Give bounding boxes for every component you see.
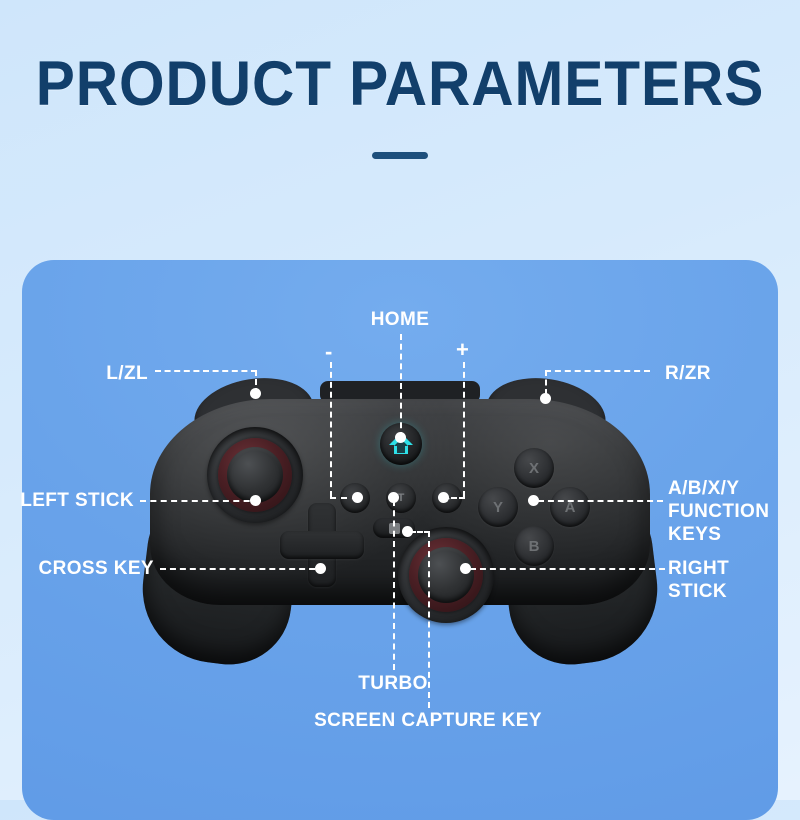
anchor-dot-home [395, 432, 406, 443]
header: PRODUCT PARAMETERS [0, 0, 800, 190]
button-x: X [514, 448, 554, 488]
right-stick [398, 527, 494, 623]
callout-right-stick: RIGHT STICK [668, 557, 798, 603]
callout-plus-sign: + [456, 339, 469, 361]
callout-cross-key: CROSS KEY [0, 557, 154, 580]
anchor-dot-left-stick [250, 495, 261, 506]
leader-r-zr-horizontal [545, 370, 650, 372]
anchor-dot-l-zl [250, 388, 261, 399]
button-y: Y [478, 487, 518, 527]
anchor-dot-plus [438, 492, 449, 503]
callout-r-zr: R/ZR [665, 362, 795, 385]
leader-left-stick [140, 500, 260, 502]
button-b: B [514, 526, 554, 566]
leader-turbo-vertical [393, 500, 395, 670]
leader-abxy [538, 500, 663, 502]
right-stick-cap [418, 547, 474, 603]
callout-home: HOME [340, 308, 460, 331]
leader-capture-horizontal [410, 531, 430, 533]
right-stick-ring [409, 538, 483, 612]
button-a: A [550, 487, 590, 527]
dpad-horizontal-arm [280, 531, 364, 559]
anchor-dot-cross-key [315, 563, 326, 574]
anchor-dot-minus [352, 492, 363, 503]
callout-abxy-function-keys: A/B/X/Y FUNCTION KEYS [668, 477, 800, 546]
title-divider [372, 152, 428, 159]
leader-l-zl-horizontal [155, 370, 257, 372]
callout-left-stick: LEFT STICK [0, 489, 134, 512]
cross-key-dpad [280, 503, 364, 587]
leader-home-vertical [400, 334, 402, 438]
callout-turbo: TURBO [333, 672, 453, 695]
callout-l-zl: L/ZL [0, 362, 148, 385]
callout-minus-sign: - [325, 341, 332, 363]
leader-r-zr-vertical [545, 370, 547, 395]
page-title: PRODUCT PARAMETERS [28, 52, 772, 116]
leader-cross-key [160, 568, 325, 570]
callout-screen-capture-key: SCREEN CAPTURE KEY [308, 709, 548, 732]
leader-right-stick [470, 568, 665, 570]
leader-plus-vertical [463, 362, 465, 497]
leader-minus-vertical [330, 362, 332, 497]
